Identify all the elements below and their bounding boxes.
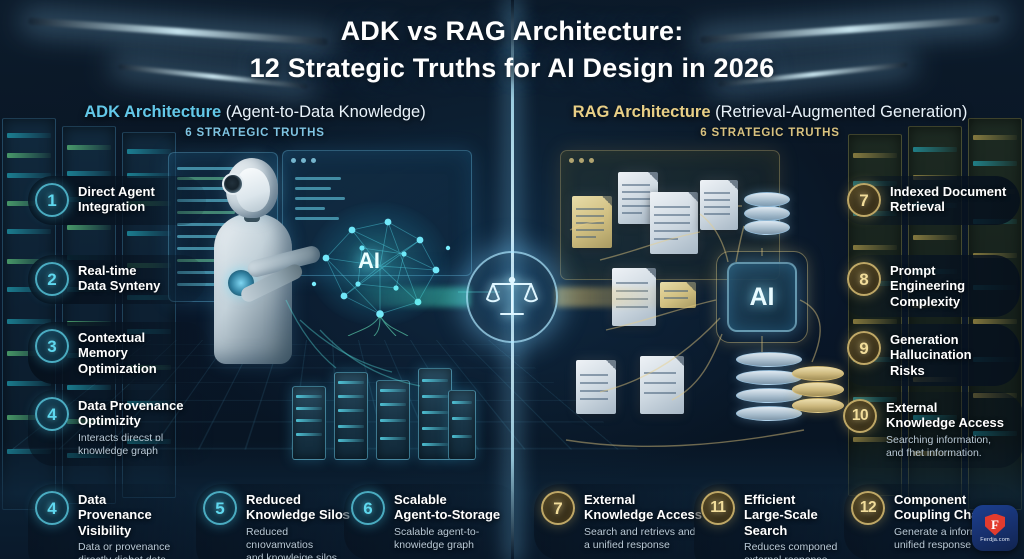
- truth-desc-line1: Search and retrievs and: [584, 526, 702, 539]
- truth-desc-line2: external response: [744, 554, 862, 559]
- document-icon-main: [650, 192, 698, 254]
- truth-item-9[interactable]: 9 Generation Hallucination Risks: [840, 324, 1020, 386]
- database-cylinder: [744, 192, 790, 248]
- truth-number-badge: 5: [203, 491, 237, 525]
- truth-number-badge: 7: [847, 183, 881, 217]
- truth-title-line1: Component: [894, 492, 986, 507]
- window-dots: [569, 158, 594, 163]
- infographic-canvas: AI: [0, 0, 1024, 559]
- bottom-truth-item-7[interactable]: 7 External Knowledge Access Search and r…: [534, 484, 714, 559]
- truth-title-line1: External: [584, 492, 702, 507]
- truth-number-badge: 10: [843, 399, 877, 433]
- document-icon: [572, 196, 612, 248]
- truth-number-badge: 4: [35, 397, 69, 431]
- truth-desc-line2: knowledge graph: [78, 445, 184, 458]
- truth-desc-line1: Data or provenance: [78, 541, 182, 554]
- truth-title-line1: Direct Agent: [78, 184, 155, 199]
- truth-title-line1: Indexed Document: [890, 184, 1006, 199]
- title-line-2: 12 Strategic Truths for AI Design in 202…: [0, 53, 1024, 84]
- truth-title-line1: Contextual Memory: [78, 330, 198, 361]
- adk-expansion: (Agent-to-Data Knowledge): [226, 103, 426, 121]
- truth-desc-line1: Scalable agent-to-: [394, 526, 500, 539]
- adk-subtitle: 6 STRATEGIC TRUTHS: [20, 127, 490, 139]
- truth-desc-line2: and fhet information.: [886, 447, 1004, 460]
- server-node: [334, 372, 368, 460]
- truth-title-line1: Data Provenance: [78, 398, 184, 413]
- truth-title-line2: Integration: [78, 199, 155, 214]
- server-node: [292, 386, 326, 460]
- truth-item-10[interactable]: 10 External Knowledge Access Searching i…: [836, 392, 1024, 468]
- truth-title-line1: Scalable: [394, 492, 500, 507]
- truth-number-badge: 8: [847, 262, 881, 296]
- truth-desc-line2: and knowleige silos: [246, 552, 356, 559]
- truth-title-line1: Real-time: [78, 263, 160, 278]
- ai-label-left: AI: [358, 248, 380, 274]
- truth-title-line2: Knowledge Access: [886, 415, 1004, 430]
- watermark-logo[interactable]: F Ferdja.com: [972, 505, 1018, 551]
- ai-chip-right: AI: [727, 262, 797, 332]
- truth-title-line2: Complexity: [890, 294, 1008, 309]
- truth-item-7[interactable]: 7 Indexed Document Retrieval: [840, 176, 1020, 225]
- truth-item-4-upper[interactable]: 4 Data Provenance Optimizity Interacts d…: [28, 390, 214, 466]
- watermark-text: Ferdja.com: [980, 537, 1010, 543]
- humanoid-robot: [196, 158, 306, 363]
- column-header-rag: RAG Architecture (Retrieval-Augmented Ge…: [535, 103, 1005, 139]
- page-title: ADK vs RAG Architecture: 12 Strategic Tr…: [0, 16, 1024, 84]
- truth-title-line2: Optimizity: [78, 413, 184, 428]
- truth-desc-line1: Interacts direcst ɒl: [78, 432, 184, 445]
- truth-number-badge: 6: [351, 491, 385, 525]
- truth-title-line2: Data Synteny: [78, 278, 160, 293]
- adk-name: ADK Architecture: [84, 103, 221, 121]
- truth-title-line2: Knowledge Silos: [246, 507, 356, 522]
- energy-beam-right: [556, 287, 676, 307]
- truth-title-line2: Optimization: [78, 361, 198, 376]
- server-node: [448, 390, 476, 460]
- truth-title-line1: Generation: [890, 332, 1008, 347]
- server-node: [376, 380, 410, 460]
- truth-desc-line2: a unified response: [584, 539, 702, 552]
- truth-number-badge: 1: [35, 183, 69, 217]
- truth-item-8[interactable]: 8 Prompt Engineering Complexity: [840, 255, 1020, 317]
- server-cluster-left: [290, 350, 480, 460]
- truth-number-badge: 9: [847, 331, 881, 365]
- ai-label-right: AI: [750, 283, 775, 312]
- bottom-truth-item-6[interactable]: 6 Scalable Agent-to-Storage Scalable age…: [344, 484, 520, 559]
- truth-title-line2: Retrieval: [890, 199, 1006, 214]
- truth-number-badge: 4: [35, 491, 69, 525]
- document-icon: [700, 180, 738, 230]
- bottom-truth-item-4[interactable]: 4 Data Provenance Visibility Data or pro…: [28, 484, 194, 559]
- truth-title-line2: Agent-to-Storage: [394, 507, 500, 522]
- document-icon-text: [576, 360, 616, 414]
- truth-desc-line1: Searching information,: [886, 434, 1004, 447]
- truth-item-1[interactable]: 1 Direct Agent Integration: [28, 176, 206, 225]
- column-header-adk: ADK Architecture (Agent-to-Data Knowledg…: [20, 103, 490, 139]
- truth-title-line1: Prompt Engineering: [890, 263, 1008, 294]
- rag-expansion: (Retrieval-Augmented Generation): [715, 103, 967, 121]
- document-icon-code: [640, 356, 684, 414]
- ai-neural-network-left: AI: [300, 196, 460, 336]
- truth-desc-line1: Reduced cnıovamvatios: [246, 526, 356, 552]
- balance-scales-icon: [466, 251, 558, 343]
- truth-item-3[interactable]: 3 Contextual Memory Optimization: [28, 322, 210, 384]
- truth-title-line2: Visibility: [78, 523, 182, 538]
- bottom-truth-item-5[interactable]: 5 Reduced Knowledge Silos Reduced cnıova…: [196, 484, 368, 559]
- truth-title-line1: Data Provenance: [78, 492, 182, 523]
- truth-title-line1: Reduced: [246, 492, 356, 507]
- truth-number-badge: 2: [35, 262, 69, 296]
- energy-beam-left: [350, 287, 470, 307]
- truth-desc-line1: Reduces componed: [744, 541, 862, 554]
- truth-desc-line2: directly diobot data: [78, 554, 182, 559]
- truth-title-line2: Knowledge Access: [584, 507, 702, 522]
- rag-subtitle: 6 STRATEGIC TRUTHS: [535, 127, 1005, 139]
- truth-title-line2: Hallucination Risks: [890, 347, 1008, 378]
- shield-icon: F: [985, 514, 1005, 536]
- truth-item-2[interactable]: 2 Real-time Data Synteny: [28, 255, 206, 304]
- truth-number-badge: 7: [541, 491, 575, 525]
- truth-desc-line2: knowiedge graph: [394, 539, 500, 552]
- truth-number-badge: 11: [701, 491, 735, 525]
- truth-number-badge: 12: [851, 491, 885, 525]
- robot-ear-module: [222, 173, 244, 195]
- truth-title-line1: External: [886, 400, 1004, 415]
- title-line-1: ADK vs RAG Architecture:: [0, 16, 1024, 47]
- truth-number-badge: 3: [35, 329, 69, 363]
- server-node: [418, 368, 452, 460]
- rag-name: RAG Architecture: [573, 103, 711, 121]
